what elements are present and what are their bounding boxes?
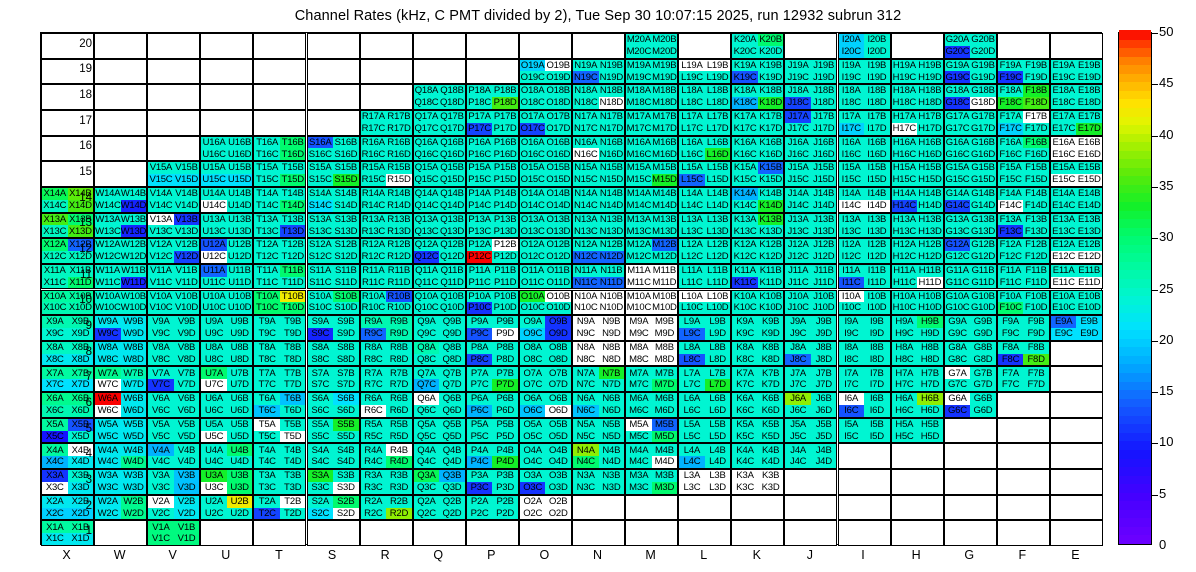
heatmap-cell-F1[interactable] — [997, 520, 1050, 546]
channel-N4A[interactable]: N4A — [573, 444, 599, 456]
channel-F3B[interactable] — [1023, 470, 1049, 482]
channel-F13B[interactable]: F13B — [1023, 214, 1049, 226]
channel-P13B[interactable]: P13B — [492, 214, 518, 226]
channel-R3A[interactable]: R3A — [361, 470, 387, 482]
channel-T11C[interactable]: T11C — [254, 277, 280, 289]
channel-K13D[interactable]: K13D — [758, 225, 784, 237]
channel-F6A[interactable] — [998, 393, 1024, 405]
channel-S10B[interactable]: S10B — [333, 291, 359, 303]
channel-W8C[interactable]: W8C — [95, 354, 121, 366]
channel-L13A[interactable]: L13A — [679, 214, 705, 226]
channel-Q17B[interactable]: Q17B — [439, 111, 465, 123]
channel-K15C[interactable]: K15C — [732, 174, 758, 186]
heatmap-cell-I6[interactable]: I6AI6BI6CI6D — [838, 392, 891, 418]
channel-V3C[interactable]: V3C — [148, 482, 174, 494]
channel-R10C[interactable]: R10C — [361, 302, 387, 314]
heatmap-cell-J7[interactable]: J7AJ7BJ7CJ7D — [784, 366, 837, 392]
channel-Q9A[interactable]: Q9A — [414, 316, 440, 328]
channel-N1B[interactable] — [599, 521, 625, 533]
channel-L11B[interactable]: L11B — [705, 265, 731, 277]
channel-E7B[interactable] — [1076, 367, 1102, 379]
channel-F19A[interactable]: F19A — [998, 60, 1024, 72]
channel-K5C[interactable]: K5C — [732, 431, 758, 443]
heatmap-cell-L11[interactable]: L11AL11BL11CL11D — [678, 264, 731, 290]
channel-P12D[interactable]: P12D — [492, 251, 518, 263]
channel-U13C[interactable]: U13C — [201, 225, 227, 237]
channel-P13A[interactable]: P13A — [467, 214, 493, 226]
heatmap-cell-G5[interactable] — [944, 418, 997, 444]
channel-L10A[interactable]: L10A — [679, 291, 705, 303]
heatmap-cell-Q13[interactable]: Q13AQ13BQ13CQ13D — [413, 213, 466, 239]
channel-N13B[interactable]: N13B — [599, 214, 625, 226]
heatmap-cell-E5[interactable] — [1050, 418, 1103, 444]
channel-X11C[interactable]: X11C — [42, 277, 68, 289]
channel-K11C[interactable]: K11C — [732, 277, 758, 289]
channel-W4B[interactable]: W4B — [121, 444, 147, 456]
channel-I14D[interactable]: I14D — [864, 200, 890, 212]
channel-W14D[interactable]: W14D — [121, 200, 147, 212]
heatmap-cell-V15[interactable]: V15AV15BV15CV15D — [147, 161, 200, 187]
heatmap-cell-R15[interactable]: R15AR15BR15CR15D — [360, 161, 413, 187]
channel-F2D[interactable] — [1023, 508, 1049, 520]
channel-V5B[interactable]: V5B — [174, 419, 200, 431]
heatmap-cell-F10[interactable]: F10AF10BF10CF10D — [997, 290, 1050, 316]
channel-I12C[interactable]: I12C — [839, 251, 865, 263]
channel-W18C[interactable] — [95, 97, 121, 109]
heatmap-cell-U19[interactable] — [200, 59, 253, 85]
channel-N8A[interactable]: N8A — [573, 342, 599, 354]
channel-I5C[interactable]: I5C — [839, 431, 865, 443]
channel-L16B[interactable]: L16B — [705, 137, 731, 149]
channel-U20C[interactable] — [201, 46, 227, 58]
channel-J7B[interactable]: J7B — [811, 367, 837, 379]
channel-F17D[interactable]: F17D — [1023, 123, 1049, 135]
channel-P4A[interactable]: P4A — [467, 444, 493, 456]
channel-U11B[interactable]: U11B — [227, 265, 253, 277]
heatmap-cell-O8[interactable]: O8AO8BO8CO8D — [519, 341, 572, 367]
channel-J1A[interactable] — [785, 521, 811, 533]
channel-P5D[interactable]: P5D — [492, 431, 518, 443]
heatmap-cell-H1[interactable] — [891, 520, 944, 546]
channel-U6D[interactable]: U6D — [227, 405, 253, 417]
channel-I8A[interactable]: I8A — [839, 342, 865, 354]
heatmap-cell-U2[interactable]: U2AU2BU2CU2D — [200, 495, 253, 521]
channel-E4C[interactable] — [1051, 456, 1077, 468]
channel-T2C[interactable]: T2C — [254, 508, 280, 520]
heatmap-cell-N16[interactable]: N16AN16BN16CN16D — [572, 136, 625, 162]
channel-R13D[interactable]: R13D — [386, 225, 412, 237]
channel-P14D[interactable]: P14D — [492, 200, 518, 212]
heatmap-cell-U13[interactable]: U13AU13BU13CU13D — [200, 213, 253, 239]
heatmap-cell-I16[interactable]: I16AI16BI16CI16D — [838, 136, 891, 162]
channel-I13A[interactable]: I13A — [839, 214, 865, 226]
channel-E17C[interactable]: E17C — [1051, 123, 1077, 135]
channel-S5B[interactable]: S5B — [333, 419, 359, 431]
channel-M11C[interactable]: M11C — [626, 277, 652, 289]
channel-N6D[interactable]: N6D — [599, 405, 625, 417]
channel-K13B[interactable]: K13B — [758, 214, 784, 226]
channel-U17A[interactable] — [201, 111, 227, 123]
channel-U1C[interactable] — [201, 533, 227, 545]
channel-P9A[interactable]: P9A — [467, 316, 493, 328]
channel-R12A[interactable]: R12A — [361, 239, 387, 251]
channel-J16A[interactable]: J16A — [785, 137, 811, 149]
heatmap-cell-O17[interactable]: O17AO17BO17CO17D — [519, 110, 572, 136]
channel-Q6C[interactable]: Q6C — [414, 405, 440, 417]
channel-E11C[interactable]: E11C — [1051, 277, 1077, 289]
channel-F6B[interactable] — [1023, 393, 1049, 405]
channel-U5A[interactable]: U5A — [201, 419, 227, 431]
channel-M14A[interactable]: M14A — [626, 188, 652, 200]
channel-T7D[interactable]: T7D — [280, 379, 306, 391]
heatmap-cell-Q16[interactable]: Q16AQ16BQ16CQ16D — [413, 136, 466, 162]
channel-S18D[interactable] — [333, 97, 359, 109]
heatmap-cell-Q7[interactable]: Q7AQ7BQ7CQ7D — [413, 366, 466, 392]
heatmap-cell-V16[interactable] — [147, 136, 200, 162]
channel-Q10D[interactable]: Q10D — [439, 302, 465, 314]
channel-N14A[interactable]: N14A — [573, 188, 599, 200]
heatmap-cell-Q14[interactable]: Q14AQ14BQ14CQ14D — [413, 187, 466, 213]
heatmap-cell-O20[interactable] — [519, 33, 572, 59]
channel-I13B[interactable]: I13B — [864, 214, 890, 226]
channel-X17A[interactable] — [42, 111, 68, 123]
channel-K10A[interactable]: K10A — [732, 291, 758, 303]
channel-G6C[interactable]: G6C — [945, 405, 971, 417]
channel-F14B[interactable]: F14B — [1023, 188, 1049, 200]
channel-T10C[interactable]: T10C — [254, 302, 280, 314]
channel-V7B[interactable]: V7B — [174, 367, 200, 379]
channel-W12D[interactable]: W12D — [121, 251, 147, 263]
channel-T12B[interactable]: T12B — [280, 239, 306, 251]
channel-E7C[interactable] — [1051, 379, 1077, 391]
channel-F1A[interactable] — [998, 521, 1024, 533]
channel-S6A[interactable]: S6A — [308, 393, 334, 405]
heatmap-cell-F4[interactable] — [997, 443, 1050, 469]
channel-K2B[interactable] — [758, 496, 784, 508]
channel-G15B[interactable]: G15B — [970, 162, 996, 174]
channel-R7D[interactable]: R7D — [386, 379, 412, 391]
channel-W13C[interactable]: W13C — [95, 225, 121, 237]
channel-Q1B[interactable] — [439, 521, 465, 533]
channel-V9C[interactable]: V9C — [148, 328, 174, 340]
channel-K20C[interactable]: K20C — [732, 46, 758, 58]
heatmap-cell-H14[interactable]: H14AH14BH14CH14D — [891, 187, 944, 213]
channel-R1C[interactable] — [361, 533, 387, 545]
channel-V14D[interactable]: V14D — [174, 200, 200, 212]
channel-P17B[interactable]: P17B — [492, 111, 518, 123]
channel-U9D[interactable]: U9D — [227, 328, 253, 340]
channel-T10B[interactable]: T10B — [280, 291, 306, 303]
channel-N2B[interactable] — [599, 496, 625, 508]
channel-U11C[interactable]: U11C — [201, 277, 227, 289]
heatmap-cell-R3[interactable]: R3AR3BR3CR3D — [360, 469, 413, 495]
channel-H6B[interactable]: H6B — [917, 393, 943, 405]
channel-T6B[interactable]: T6B — [280, 393, 306, 405]
channel-J5D[interactable]: J5D — [811, 431, 837, 443]
channel-X13C[interactable]: X13C — [42, 225, 68, 237]
heatmap-cell-V2[interactable]: V2AV2BV2CV2D — [147, 495, 200, 521]
channel-O17C[interactable]: O17C — [520, 123, 546, 135]
channel-G6B[interactable]: G6B — [970, 393, 996, 405]
channel-J12B[interactable]: J12B — [811, 239, 837, 251]
channel-O3D[interactable]: O3D — [545, 482, 571, 494]
channel-X15C[interactable] — [42, 174, 68, 186]
channel-X6C[interactable]: X6C — [42, 405, 68, 417]
channel-F15A[interactable]: F15A — [998, 162, 1024, 174]
channel-Q14C[interactable]: Q14C — [414, 200, 440, 212]
heatmap-cell-P6[interactable]: P6AP6BP6CP6D — [466, 392, 519, 418]
channel-L15B[interactable]: L15B — [705, 162, 731, 174]
channel-M8A[interactable]: M8A — [626, 342, 652, 354]
heatmap-cell-O5[interactable]: O5AO5BO5CO5D — [519, 418, 572, 444]
channel-H7D[interactable]: H7D — [917, 379, 943, 391]
channel-E11A[interactable]: E11A — [1051, 265, 1077, 277]
channel-G13A[interactable]: G13A — [945, 214, 971, 226]
channel-K12C[interactable]: K12C — [732, 251, 758, 263]
channel-W16D[interactable] — [121, 148, 147, 160]
channel-L15C[interactable]: L15C — [679, 174, 705, 186]
channel-V1A[interactable]: V1A — [148, 521, 174, 533]
channel-I14B[interactable]: I14B — [864, 188, 890, 200]
heatmap-cell-W3[interactable]: W3AW3BW3CW3D — [94, 469, 147, 495]
channel-U15C[interactable]: U15C — [201, 174, 227, 186]
channel-G11C[interactable]: G11C — [945, 277, 971, 289]
heatmap-cell-G1[interactable] — [944, 520, 997, 546]
heatmap-cell-E9[interactable]: E9AE9BE9CE9D — [1050, 315, 1103, 341]
channel-E14C[interactable]: E14C — [1051, 200, 1077, 212]
heatmap-cell-Q9[interactable]: Q9AQ9BQ9CQ9D — [413, 315, 466, 341]
channel-O19D[interactable]: O19D — [545, 71, 571, 83]
channel-H17B[interactable]: H17B — [917, 111, 943, 123]
channel-L13B[interactable]: L13B — [705, 214, 731, 226]
channel-M14B[interactable]: M14B — [652, 188, 678, 200]
channel-K11D[interactable]: K11D — [758, 277, 784, 289]
channel-L6A[interactable]: L6A — [679, 393, 705, 405]
channel-S14D[interactable]: S14D — [333, 200, 359, 212]
heatmap-cell-R6[interactable]: R6AR6BR6CR6D — [360, 392, 413, 418]
channel-T3B[interactable]: T3B — [280, 470, 306, 482]
channel-W2D[interactable]: W2D — [121, 508, 147, 520]
channel-P16D[interactable]: P16D — [492, 148, 518, 160]
channel-F8A[interactable]: F8A — [998, 342, 1024, 354]
channel-Q7A[interactable]: Q7A — [414, 367, 440, 379]
channel-R10D[interactable]: R10D — [386, 302, 412, 314]
channel-J15A[interactable]: J15A — [785, 162, 811, 174]
channel-G15A[interactable]: G15A — [945, 162, 971, 174]
channel-H4C[interactable] — [892, 456, 918, 468]
channel-W8B[interactable]: W8B — [121, 342, 147, 354]
channel-Q2B[interactable]: Q2B — [439, 496, 465, 508]
channel-W1C[interactable] — [95, 533, 121, 545]
channel-V13D[interactable]: V13D — [174, 225, 200, 237]
channel-S19B[interactable] — [333, 60, 359, 72]
channel-L7C[interactable]: L7C — [679, 379, 705, 391]
channel-E13A[interactable]: E13A — [1051, 214, 1077, 226]
channel-V11D[interactable]: V11D — [174, 277, 200, 289]
channel-G1D[interactable] — [970, 533, 996, 545]
channel-J20D[interactable] — [811, 46, 837, 58]
channel-E14D[interactable]: E14D — [1076, 200, 1102, 212]
channel-X2A[interactable]: X2A — [42, 496, 68, 508]
channel-N12B[interactable]: N12B — [599, 239, 625, 251]
heatmap-cell-M15[interactable]: M15AM15BM15CM15D — [625, 161, 678, 187]
channel-W11C[interactable]: W11C — [95, 277, 121, 289]
channel-S1D[interactable] — [333, 533, 359, 545]
channel-M12D[interactable]: M12D — [652, 251, 678, 263]
heatmap-cell-J9[interactable]: J9AJ9BJ9CJ9D — [784, 315, 837, 341]
heatmap-cell-K19[interactable]: K19AK19BK19CK19D — [731, 59, 784, 85]
channel-H9B[interactable]: H9B — [917, 316, 943, 328]
channel-G19B[interactable]: G19B — [970, 60, 996, 72]
channel-Q1A[interactable] — [414, 521, 440, 533]
channel-J15C[interactable]: J15C — [785, 174, 811, 186]
channel-U2A[interactable]: U2A — [201, 496, 227, 508]
channel-I5D[interactable]: I5D — [864, 431, 890, 443]
channel-F9B[interactable]: F9B — [1023, 316, 1049, 328]
channel-S6D[interactable]: S6D — [333, 405, 359, 417]
heatmap-cell-H10[interactable]: H10AH10BH10CH10D — [891, 290, 944, 316]
channel-O8A[interactable]: O8A — [520, 342, 546, 354]
channel-R3B[interactable]: R3B — [386, 470, 412, 482]
heatmap-cell-J16[interactable]: J16AJ16BJ16CJ16D — [784, 136, 837, 162]
channel-V19A[interactable] — [148, 60, 174, 72]
channel-I2D[interactable] — [864, 508, 890, 520]
channel-R6D[interactable]: R6D — [386, 405, 412, 417]
channel-M10C[interactable]: M10C — [626, 302, 652, 314]
channel-G9B[interactable]: G9B — [970, 316, 996, 328]
heatmap-cell-U15[interactable]: U15AU15BU15CU15D — [200, 161, 253, 187]
channel-V18A[interactable] — [148, 85, 174, 97]
channel-J8B[interactable]: J8B — [811, 342, 837, 354]
channel-U1A[interactable] — [201, 521, 227, 533]
channel-O17D[interactable]: O17D — [545, 123, 571, 135]
heatmap-cell-L12[interactable]: L12AL12BL12CL12D — [678, 238, 731, 264]
channel-N8D[interactable]: N8D — [599, 354, 625, 366]
channel-L16A[interactable]: L16A — [679, 137, 705, 149]
channel-J12D[interactable]: J12D — [811, 251, 837, 263]
channel-M4D[interactable]: M4D — [652, 456, 678, 468]
channel-F8D[interactable]: F8D — [1023, 354, 1049, 366]
channel-M16C[interactable]: M16C — [626, 148, 652, 160]
channel-S15C[interactable]: S15C — [308, 174, 334, 186]
channel-U3C[interactable]: U3C — [201, 482, 227, 494]
channel-E2D[interactable] — [1076, 508, 1102, 520]
channel-Q13A[interactable]: Q13A — [414, 214, 440, 226]
channel-Q17C[interactable]: Q17C — [414, 123, 440, 135]
channel-S14B[interactable]: S14B — [333, 188, 359, 200]
heatmap-cell-F7[interactable]: F7AF7BF7CF7D — [997, 366, 1050, 392]
heatmap-cell-J15[interactable]: J15AJ15BJ15CJ15D — [784, 161, 837, 187]
channel-W9A[interactable]: W9A — [95, 316, 121, 328]
channel-K10C[interactable]: K10C — [732, 302, 758, 314]
channel-W9C[interactable]: W9C — [95, 328, 121, 340]
channel-S20D[interactable] — [333, 46, 359, 58]
heatmap-cell-R12[interactable]: R12AR12BR12CR12D — [360, 238, 413, 264]
channel-O18C[interactable]: O18C — [520, 97, 546, 109]
channel-N17D[interactable]: N17D — [599, 123, 625, 135]
channel-S2A[interactable]: S2A — [308, 496, 334, 508]
heatmap-cell-J4[interactable]: J4AJ4BJ4CJ4D — [784, 443, 837, 469]
channel-W20B[interactable] — [121, 34, 147, 46]
heatmap-cell-O3[interactable]: O3AO3BO3CO3D — [519, 469, 572, 495]
channel-H16C[interactable]: H16C — [892, 148, 918, 160]
channel-E16B[interactable]: E16B — [1076, 137, 1102, 149]
channel-R18C[interactable] — [361, 97, 387, 109]
channel-Q12A[interactable]: Q12A — [414, 239, 440, 251]
channel-P1D[interactable] — [492, 533, 518, 545]
heatmap-cell-F8[interactable]: F8AF8BF8CF8D — [997, 341, 1050, 367]
channel-M14C[interactable]: M14C — [626, 200, 652, 212]
channel-T14D[interactable]: T14D — [280, 200, 306, 212]
channel-G3D[interactable] — [970, 482, 996, 494]
channel-J20C[interactable] — [785, 46, 811, 58]
channel-N11C[interactable]: N11C — [573, 277, 599, 289]
channel-M7C[interactable]: M7C — [626, 379, 652, 391]
channel-X2C[interactable]: X2C — [42, 508, 68, 520]
heatmap-cell-R18[interactable] — [360, 84, 413, 110]
channel-N1C[interactable] — [573, 533, 599, 545]
channel-W9D[interactable]: W9D — [121, 328, 147, 340]
heatmap-cell-E7[interactable] — [1050, 366, 1103, 392]
channel-R17D[interactable]: R17D — [386, 123, 412, 135]
channel-K9A[interactable]: K9A — [732, 316, 758, 328]
channel-S15D[interactable]: S15D — [333, 174, 359, 186]
heatmap-cell-H19[interactable]: H19AH19BH19CH19D — [891, 59, 944, 85]
channel-Q12D[interactable]: Q12D — [439, 251, 465, 263]
channel-K16B[interactable]: K16B — [758, 137, 784, 149]
heatmap-cell-Q20[interactable] — [413, 33, 466, 59]
heatmap-cell-M19[interactable]: M19AM19BM19CM19D — [625, 59, 678, 85]
channel-rate-heatmap[interactable]: X14AX14BX14CX14DX13AX13BX13CX13DX12AX12B… — [40, 32, 1102, 545]
heatmap-cell-P18[interactable]: P18AP18BP18CP18D — [466, 84, 519, 110]
channel-V17B[interactable] — [174, 111, 200, 123]
channel-I5B[interactable]: I5B — [864, 419, 890, 431]
channel-U14D[interactable]: U14D — [227, 200, 253, 212]
channel-O1C[interactable] — [520, 533, 546, 545]
channel-Q4C[interactable]: Q4C — [414, 456, 440, 468]
channel-I15B[interactable]: I15B — [864, 162, 890, 174]
heatmap-cell-R7[interactable]: R7AR7BR7CR7D — [360, 366, 413, 392]
channel-O13D[interactable]: O13D — [545, 225, 571, 237]
channel-E9B[interactable]: E9B — [1076, 316, 1102, 328]
channel-L11A[interactable]: L11A — [679, 265, 705, 277]
channel-G9C[interactable]: G9C — [945, 328, 971, 340]
channel-G17C[interactable]: G17C — [945, 123, 971, 135]
channel-R15B[interactable]: R15B — [386, 162, 412, 174]
channel-S17D[interactable] — [333, 123, 359, 135]
channel-K11B[interactable]: K11B — [758, 265, 784, 277]
heatmap-cell-S7[interactable]: S7AS7BS7CS7D — [307, 366, 360, 392]
channel-P6B[interactable]: P6B — [492, 393, 518, 405]
channel-U10B[interactable]: U10B — [227, 291, 253, 303]
channel-K3C[interactable]: K3C — [732, 482, 758, 494]
heatmap-cell-H13[interactable]: H13AH13BH13CH13D — [891, 213, 944, 239]
channel-S12A[interactable]: S12A — [308, 239, 334, 251]
channel-N5D[interactable]: N5D — [599, 431, 625, 443]
channel-T15B[interactable]: T15B — [280, 162, 306, 174]
channel-T2B[interactable]: T2B — [280, 496, 306, 508]
channel-F2B[interactable] — [1023, 496, 1049, 508]
channel-V15B[interactable]: V15B — [174, 162, 200, 174]
channel-J14C[interactable]: J14C — [785, 200, 811, 212]
channel-R19B[interactable] — [386, 60, 412, 72]
heatmap-cell-G15[interactable]: G15AG15BG15CG15D — [944, 161, 997, 187]
heatmap-cell-J8[interactable]: J8AJ8BJ8CJ8D — [784, 341, 837, 367]
channel-M13B[interactable]: M13B — [652, 214, 678, 226]
channel-W2B[interactable]: W2B — [121, 496, 147, 508]
heatmap-cell-O1[interactable] — [519, 520, 572, 546]
channel-Q17A[interactable]: Q17A — [414, 111, 440, 123]
